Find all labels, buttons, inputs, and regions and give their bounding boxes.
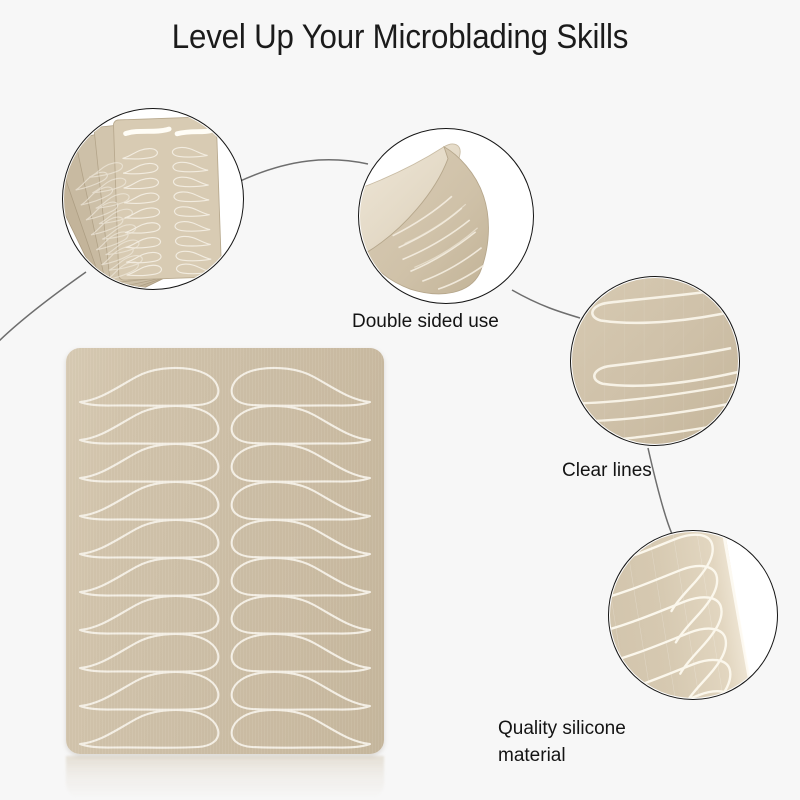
callout-bubble-double-sided <box>358 128 534 304</box>
folded-pad-icon <box>359 129 533 303</box>
brow-column-right <box>232 368 370 748</box>
callout-bubble-pad-stack <box>62 108 244 290</box>
main-practice-pad <box>66 348 384 754</box>
infographic-canvas: Level Up Your Microblading Skills <box>0 0 800 800</box>
callout-label-clear-lines: Clear lines <box>562 457 652 484</box>
callout-bubble-quality-silicone <box>608 530 778 700</box>
connector-double-to-clear <box>512 290 580 318</box>
pad-stack-icon <box>63 109 243 289</box>
pad-reflection <box>66 756 384 798</box>
brow-column-left <box>80 368 218 748</box>
connector-stack-to-double <box>238 160 368 182</box>
page-title: Level Up Your Microblading Skills <box>32 18 768 57</box>
brow-outline-grid <box>66 348 384 754</box>
callout-bubble-clear-lines <box>570 276 740 446</box>
macro-edge-icon <box>609 531 777 699</box>
callout-label-double-sided: Double sided use <box>352 308 499 335</box>
macro-lines-icon <box>571 277 739 445</box>
connector-stack-to-pad <box>0 272 86 344</box>
callout-label-quality-silicone: Quality silicone material <box>498 715 626 769</box>
practice-pad-surface <box>66 348 384 754</box>
